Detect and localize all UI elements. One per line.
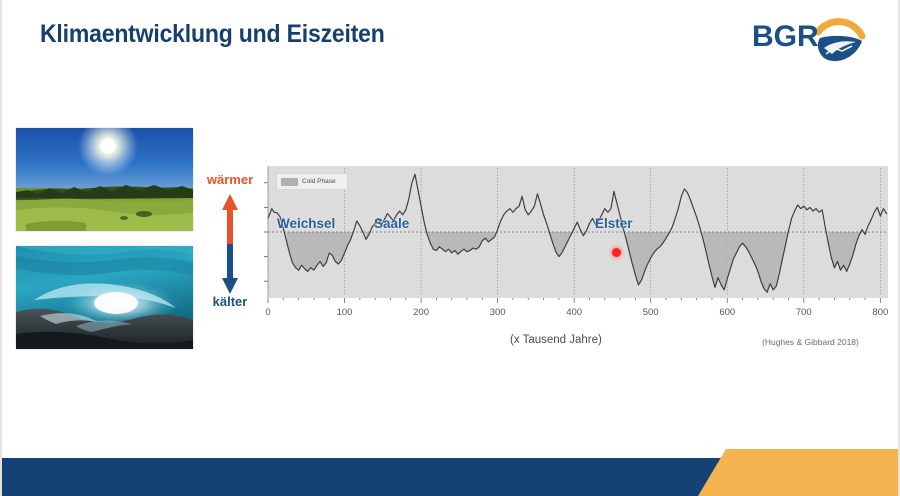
x-tick-label: 400	[566, 307, 582, 318]
x-tick-label: 500	[643, 307, 659, 318]
arrow-down-icon	[222, 244, 238, 294]
annotation-weichsel: Weichsel	[277, 216, 335, 231]
x-tick-label: 100	[337, 307, 353, 318]
presentation-slide: Klimaentwicklung und Eiszeiten BGR	[0, 0, 900, 496]
climate-timeseries-chart	[260, 166, 888, 312]
cold-phase-swatch	[281, 178, 298, 186]
photo-ice-cave	[16, 246, 193, 349]
footer-orange-accent	[698, 449, 898, 496]
page-title: Klimaentwicklung und Eiszeiten	[40, 20, 385, 49]
logo-leaf-icon	[818, 36, 862, 61]
chart-canvas	[260, 166, 888, 312]
x-axis-tick-labels: 0100200300400500600700800	[260, 307, 888, 321]
annotation-elster: Elster	[595, 216, 633, 231]
x-tick-label: 200	[413, 307, 429, 318]
arrow-up-icon	[222, 194, 238, 244]
bgr-logo: BGR	[750, 10, 868, 72]
temperature-direction-scale: wärmer kälter	[198, 172, 262, 310]
chart-legend: Cold Phase	[276, 173, 348, 190]
x-tick-label: 800	[872, 307, 888, 318]
y-axis-ticks	[264, 183, 268, 281]
x-tick-label: 300	[490, 307, 506, 318]
warmer-label: wärmer	[198, 172, 262, 187]
source-citation: (Hughes & Gibbard 2018)	[762, 337, 859, 347]
logo-wordmark: BGR	[752, 20, 819, 53]
x-tick-label: 700	[796, 307, 812, 318]
x-axis-title: (x Tausend Jahre)	[510, 334, 602, 346]
x-tick-label: 600	[719, 307, 735, 318]
photo-sunny-meadow	[16, 128, 193, 231]
annotation-saale: Saale	[374, 216, 409, 231]
x-tick-label: 0	[265, 307, 270, 318]
x-axis-ticks	[268, 298, 880, 303]
cold-phase-legend-label: Cold Phase	[302, 178, 336, 185]
colder-label: kälter	[198, 294, 262, 309]
logo-arc-icon	[818, 22, 862, 36]
